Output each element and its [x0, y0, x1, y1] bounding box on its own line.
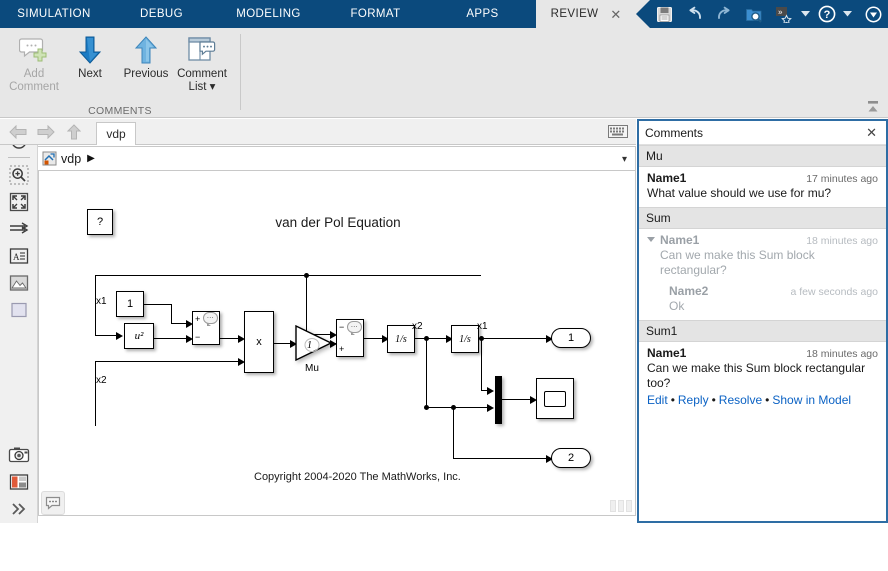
model-tab-vdp[interactable]: vdp	[96, 122, 136, 145]
gain-block[interactable]: 1	[295, 325, 333, 361]
save-icon[interactable]	[652, 2, 678, 26]
copyright-annotation: Copyright 2004-2020 The MathWorks, Inc.	[254, 471, 461, 483]
zoom-in-icon[interactable]	[0, 161, 38, 188]
wire-x1-to-square	[95, 335, 117, 336]
tab-simulation[interactable]: SIMULATION	[0, 0, 108, 28]
page-title: van der Pol Equation	[39, 215, 636, 230]
comment-author: Name1	[647, 171, 806, 185]
quick-access-toolbar: » ?	[636, 0, 888, 28]
wire-int2-out	[479, 338, 547, 339]
previous-label: Previous	[124, 68, 169, 80]
comment-body: Ok	[669, 299, 878, 314]
svg-text:A: A	[13, 252, 20, 262]
comment-timestamp: 18 minutes ago	[806, 348, 878, 360]
arrow-up-icon	[133, 34, 159, 66]
model-icon	[42, 151, 57, 166]
doc-block-label: ?	[97, 216, 103, 228]
comment-list-label-2: List ▾	[189, 81, 216, 93]
comment-toggle-button[interactable]	[41, 491, 65, 515]
signal-lines-icon[interactable]	[0, 215, 38, 242]
arrow-mux-in2	[487, 404, 494, 412]
comment-meta-row: Name1 17 minutes ago	[647, 171, 878, 185]
fit-to-view-icon[interactable]	[0, 188, 38, 215]
annotation-icon[interactable]: A	[0, 242, 38, 269]
model-canvas[interactable]: van der Pol Equation ? x1 1 u²	[38, 171, 636, 516]
comment-author: Name1	[660, 233, 806, 247]
image-icon[interactable]	[0, 269, 38, 296]
wire-feedback-top	[95, 275, 307, 276]
breadcrumb: vdp ▶ ▾	[38, 146, 636, 171]
comment-badge-sum[interactable]: ⋯	[203, 312, 218, 324]
add-comment-button[interactable]: Add Comment	[6, 32, 62, 94]
arrow-down-icon	[77, 34, 103, 66]
comment-meta-row: Name1 18 minutes ago	[647, 346, 878, 360]
comment-thread-mu[interactable]: Name1 17 minutes ago What value should w…	[639, 167, 886, 207]
comment-group-header-mu[interactable]: Mu	[639, 145, 886, 167]
wire-const-to-sum	[171, 323, 187, 324]
tab-modeling[interactable]: MODELING	[215, 0, 322, 28]
area-icon[interactable]	[0, 296, 38, 323]
scope-block[interactable]	[536, 378, 574, 419]
comment-list-label-1: Comment	[177, 68, 227, 80]
camera-icon[interactable]	[0, 441, 38, 468]
svg-text:»: »	[778, 7, 783, 16]
ribbon-body: Add Comment Next	[0, 28, 888, 118]
chevron-down-icon[interactable]	[647, 237, 655, 242]
close-icon[interactable]: ✕	[610, 8, 621, 21]
favorites-icon[interactable]: »	[771, 2, 797, 26]
tab-debug[interactable]: DEBUG	[108, 0, 215, 28]
comment-meta-row: Name1 18 minutes ago	[647, 233, 878, 247]
constant-block[interactable]: 1	[116, 291, 144, 317]
wire-sum1-out	[364, 338, 383, 339]
out2-label: 2	[568, 452, 574, 464]
square-block-label: u²	[135, 330, 144, 342]
tab-apps[interactable]: APPS	[429, 0, 536, 28]
wire-sum-to-product	[220, 338, 239, 339]
wire-x2-to-mux	[426, 407, 488, 408]
help-icon[interactable]: ?	[814, 2, 840, 26]
up-arrow-icon[interactable]	[64, 123, 84, 141]
close-icon[interactable]: ✕	[863, 125, 880, 141]
back-arrow-icon[interactable]	[8, 123, 28, 141]
comment-group-header-sum[interactable]: Sum	[639, 207, 886, 229]
comment-reply[interactable]: Name2 a few seconds ago Ok	[669, 284, 878, 314]
sum1-plus-label: +	[339, 344, 344, 354]
next-label: Next	[78, 68, 102, 80]
doc-block[interactable]: ?	[87, 209, 113, 235]
comment-badge-sum1[interactable]: ⋯	[347, 321, 362, 333]
more-options-icon[interactable]	[860, 2, 886, 26]
square-block[interactable]: u²	[124, 323, 154, 349]
svg-text:?: ?	[823, 9, 830, 21]
comment-author: Name1	[647, 346, 806, 360]
previous-comment-button[interactable]: Previous	[118, 32, 174, 81]
wire-out2-v	[453, 407, 454, 459]
comment-timestamp: a few seconds ago	[790, 286, 878, 298]
canvas-resize-grip[interactable]	[610, 500, 632, 512]
comment-body: Can we make this Sum block rectangular t…	[647, 361, 878, 391]
comment-meta-row: Name2 a few seconds ago	[669, 284, 878, 298]
integrator1-label: 1/s	[395, 334, 407, 345]
comment-timestamp: 17 minutes ago	[806, 173, 878, 185]
comment-action-edit[interactable]: Edit	[647, 393, 668, 407]
tab-review[interactable]: REVIEW ✕	[536, 0, 636, 28]
wire-feedback-top2	[306, 275, 481, 276]
find-folder-icon[interactable]	[741, 2, 767, 26]
comments-panel-title: Comments	[645, 126, 863, 140]
chevron-down-icon[interactable]: ▾	[622, 154, 627, 165]
breadcrumb-label[interactable]: vdp	[61, 152, 81, 166]
add-comment-label-1: Add	[24, 68, 44, 80]
wire-x1-down	[481, 338, 482, 391]
ribbon-separator	[240, 34, 241, 110]
product-block[interactable]: x	[244, 311, 274, 373]
add-comment-icon	[19, 34, 49, 66]
arrow-square-in	[116, 332, 123, 340]
comment-author: Name2	[669, 284, 790, 298]
junction-x2-bottom	[424, 405, 429, 410]
mux-block[interactable]	[495, 376, 502, 424]
caret-down-icon-help[interactable]	[841, 2, 854, 26]
toolbar-divider	[8, 157, 30, 158]
wire-x2-to-product	[95, 361, 239, 362]
comment-action-reply[interactable]: Reply	[678, 393, 709, 407]
wire-const-out	[144, 304, 172, 305]
wire-int1-out	[415, 338, 447, 339]
comment-action-resolve[interactable]: Resolve	[719, 393, 762, 407]
wire-out2-h	[453, 458, 547, 459]
ribbon-group-comments: Add Comment Next	[0, 28, 240, 118]
signal-label-x1-mid: x1	[477, 321, 488, 332]
out1-port[interactable]: 1	[551, 328, 591, 348]
comment-group-header-sum1[interactable]: Sum1	[639, 320, 886, 342]
snapshot-icon[interactable]	[0, 468, 38, 495]
collapse-ribbon-icon[interactable]	[864, 99, 882, 115]
scope-screen	[544, 391, 566, 407]
undo-icon[interactable]	[682, 2, 708, 26]
comments-panel: Comments ✕ Mu Name1 17 minutes ago What …	[637, 119, 888, 523]
comment-body: What value should we use for mu?	[647, 186, 878, 201]
product-block-label: x	[256, 336, 262, 348]
comment-list-icon	[187, 34, 217, 66]
caret-down-icon-favorites[interactable]	[799, 2, 812, 26]
svg-text:1: 1	[307, 340, 312, 351]
comment-body: Can we make this Sum block rectangular?	[660, 248, 878, 278]
wire-mux-to-scope	[502, 399, 531, 400]
comment-actions: Edit•Reply•Resolve•Show in Model	[647, 393, 878, 407]
junction-out2	[451, 405, 456, 410]
comment-bubble-icon	[45, 496, 61, 510]
constant-block-label: 1	[127, 298, 133, 310]
keyboard-icon[interactable]	[608, 125, 628, 138]
ribbon-group-label: COMMENTS	[0, 105, 240, 117]
tab-review-label: REVIEW	[551, 8, 599, 20]
comment-action-show-in-model[interactable]: Show in Model	[772, 393, 851, 407]
tab-format[interactable]: FORMAT	[322, 0, 429, 28]
model-tab-label: vdp	[106, 127, 125, 141]
sum-plus-label: +	[195, 314, 200, 324]
add-comment-label-2: Comment	[9, 81, 59, 93]
breadcrumb-separator: ▶	[87, 153, 95, 164]
redo-icon[interactable]	[712, 2, 738, 26]
next-comment-button[interactable]: Next	[62, 32, 118, 81]
comments-panel-header: Comments ✕	[639, 121, 886, 145]
sum-minus-label: −	[195, 332, 200, 342]
left-toolbar: A	[0, 119, 38, 523]
signal-label-x2-left: x2	[96, 375, 107, 386]
integrator2-block[interactable]: 1/s	[451, 325, 479, 353]
wire-x2-down	[426, 338, 427, 408]
wire-product-out	[274, 343, 291, 344]
qat-notch	[636, 0, 650, 28]
navigation-strip: vdp	[0, 119, 636, 145]
out2-port[interactable]: 2	[551, 448, 591, 468]
arrow-mux-in1	[487, 387, 494, 395]
comment-timestamp: 18 minutes ago	[806, 235, 878, 247]
wire-square-out	[154, 338, 186, 339]
forward-arrow-icon[interactable]	[36, 123, 56, 141]
more-tools-icon[interactable]	[0, 495, 38, 522]
comment-list-button[interactable]: Comment List ▾	[174, 32, 230, 94]
signal-label-x1-left: x1	[96, 296, 107, 307]
wire-const-down	[171, 304, 172, 324]
sum1-minus-label: −	[339, 322, 344, 332]
integrator2-label: 1/s	[459, 334, 471, 345]
integrator1-block[interactable]: 1/s	[387, 325, 415, 353]
comment-thread-sum1[interactable]: Name1 18 minutes ago Can we make this Su…	[639, 342, 886, 413]
signal-label-x2-mid: x2	[412, 321, 423, 332]
gain-block-label: Mu	[305, 363, 319, 374]
wire-x2-left-v	[95, 361, 96, 426]
comment-thread-sum[interactable]: Name1 18 minutes ago Can we make this Su…	[639, 229, 886, 320]
out1-label: 1	[568, 332, 574, 344]
